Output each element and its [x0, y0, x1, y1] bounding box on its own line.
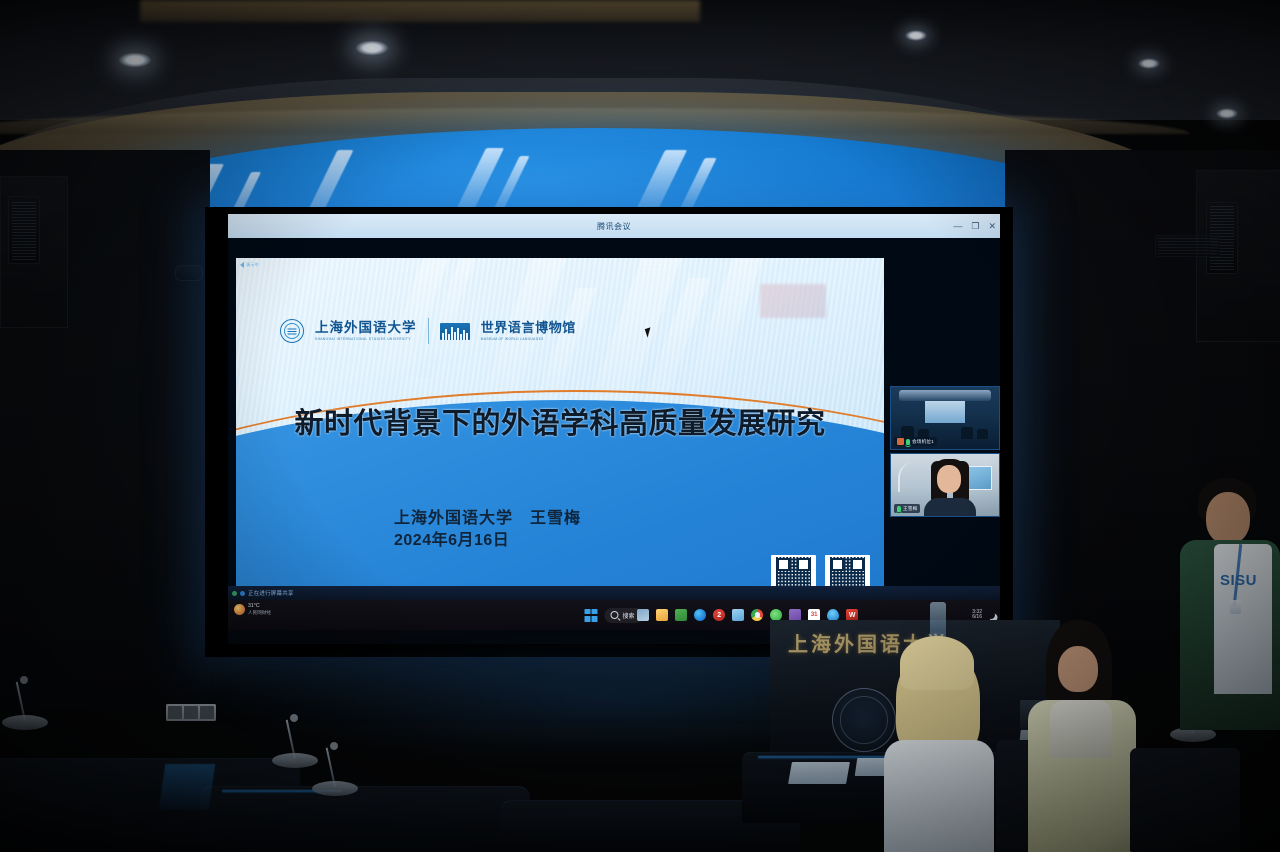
attendee-badge	[1230, 600, 1241, 614]
ceiling-speaker	[1155, 235, 1221, 257]
wall-speaker	[8, 196, 40, 264]
file-explorer-icon[interactable]	[656, 609, 668, 621]
taskbar-center-group: 搜索	[584, 600, 643, 630]
ceiling-downlight	[1138, 58, 1160, 69]
museum-name-en: MUSEUM OF WORLD LANGUAGES	[481, 337, 544, 341]
video-tile-speaker[interactable]: 王雪梅	[890, 453, 1000, 517]
video-tile-venue[interactable]: 会场机位1	[890, 386, 1000, 450]
do-not-disturb-icon[interactable]	[987, 611, 995, 619]
microphone-icon	[906, 439, 910, 445]
university-seal-icon	[280, 319, 304, 343]
chrome-icon[interactable]	[751, 609, 763, 621]
screen-share-notice-bar: 正在进行屏幕共享	[228, 586, 1000, 600]
video-tile-label: 王雪梅	[894, 504, 920, 513]
presenting-badge: 演示中	[240, 262, 259, 268]
taskbar-weather-widget[interactable]: 31°C 人民网财经	[234, 604, 271, 615]
weather-news-label: 人民网财经	[248, 610, 271, 615]
share-status-dot	[232, 591, 237, 596]
logo-divider	[428, 318, 429, 344]
minimize-icon[interactable]: —	[953, 222, 962, 231]
ceiling-downlight	[905, 30, 927, 41]
people-icon[interactable]	[637, 609, 649, 621]
ceiling-downlight	[118, 52, 152, 68]
share-notice-text: 正在进行屏幕共享	[248, 589, 294, 597]
shirt	[1214, 544, 1272, 694]
shirt-text: SISU	[1220, 572, 1272, 602]
lecture-hall-scene: 腾讯会议 — ❐ ✕	[0, 0, 1280, 852]
window-controls[interactable]: — ❐ ✕	[953, 214, 996, 238]
participant-name: 会场机位1	[912, 439, 934, 445]
weather-icon	[234, 604, 245, 615]
badge-arrow-icon	[240, 262, 244, 268]
search-placeholder: 搜索	[622, 611, 634, 620]
video-tile-column: 会场机位1 王雪梅	[890, 386, 998, 520]
slide-date: 2024年6月16日	[394, 526, 509, 550]
audience-chair	[1130, 748, 1240, 852]
r-app-icon[interactable]: 2	[713, 609, 725, 621]
microphone-icon	[897, 506, 901, 512]
maximize-icon[interactable]: ❐	[971, 222, 979, 231]
presentation-slide: 演示中 上海外国语大学 SHANGHAI INTERNATIONAL STUDI…	[236, 258, 884, 610]
meeting-title-bar: 腾讯会议 — ❐ ✕	[228, 214, 1000, 238]
slide-watermark	[760, 284, 826, 318]
share-cast-icon	[240, 591, 245, 596]
museum-name-cn: 世界语言博物馆	[481, 321, 576, 334]
close-icon[interactable]: ✕	[988, 222, 996, 231]
ceiling-warm-light-strip	[140, 0, 700, 22]
slide-presenter: 上海外国语大学 王雪梅	[394, 504, 581, 528]
conference-desk	[200, 786, 530, 852]
badge-label: 演示中	[246, 262, 259, 268]
ceiling-downlight	[1216, 108, 1238, 119]
start-icon[interactable]	[584, 609, 597, 622]
avatar	[897, 438, 904, 445]
edge-icon[interactable]	[694, 609, 706, 621]
folder-icon[interactable]	[732, 609, 744, 621]
search-icon	[610, 611, 618, 619]
slide-title: 新时代背景下的外语学科高质量发展研究	[236, 400, 884, 442]
ceiling-downlight	[355, 40, 389, 56]
university-name-en: SHANGHAI INTERNATIONAL STUDIES UNIVERSIT…	[315, 337, 411, 341]
meeting-app-title: 腾讯会议	[597, 221, 631, 232]
slide-logo-row: 上海外国语大学 SHANGHAI INTERNATIONAL STUDIES U…	[280, 318, 576, 344]
participant-name: 王雪梅	[903, 506, 917, 512]
projected-desktop: 腾讯会议 — ❐ ✕	[228, 214, 1000, 644]
university-emblem	[832, 688, 896, 752]
taskbar-clock[interactable]: 3:32 6/16	[972, 610, 982, 621]
museum-mark-icon	[440, 323, 470, 340]
wall-sconce	[175, 265, 203, 281]
meeting-stage: 演示中 上海外国语大学 SHANGHAI INTERNATIONAL STUDI…	[228, 238, 1000, 630]
document-paper	[788, 762, 850, 784]
notes-icon[interactable]	[675, 609, 687, 621]
video-tile-label: 会场机位1	[894, 437, 937, 446]
university-name-cn: 上海外国语大学	[315, 321, 417, 335]
